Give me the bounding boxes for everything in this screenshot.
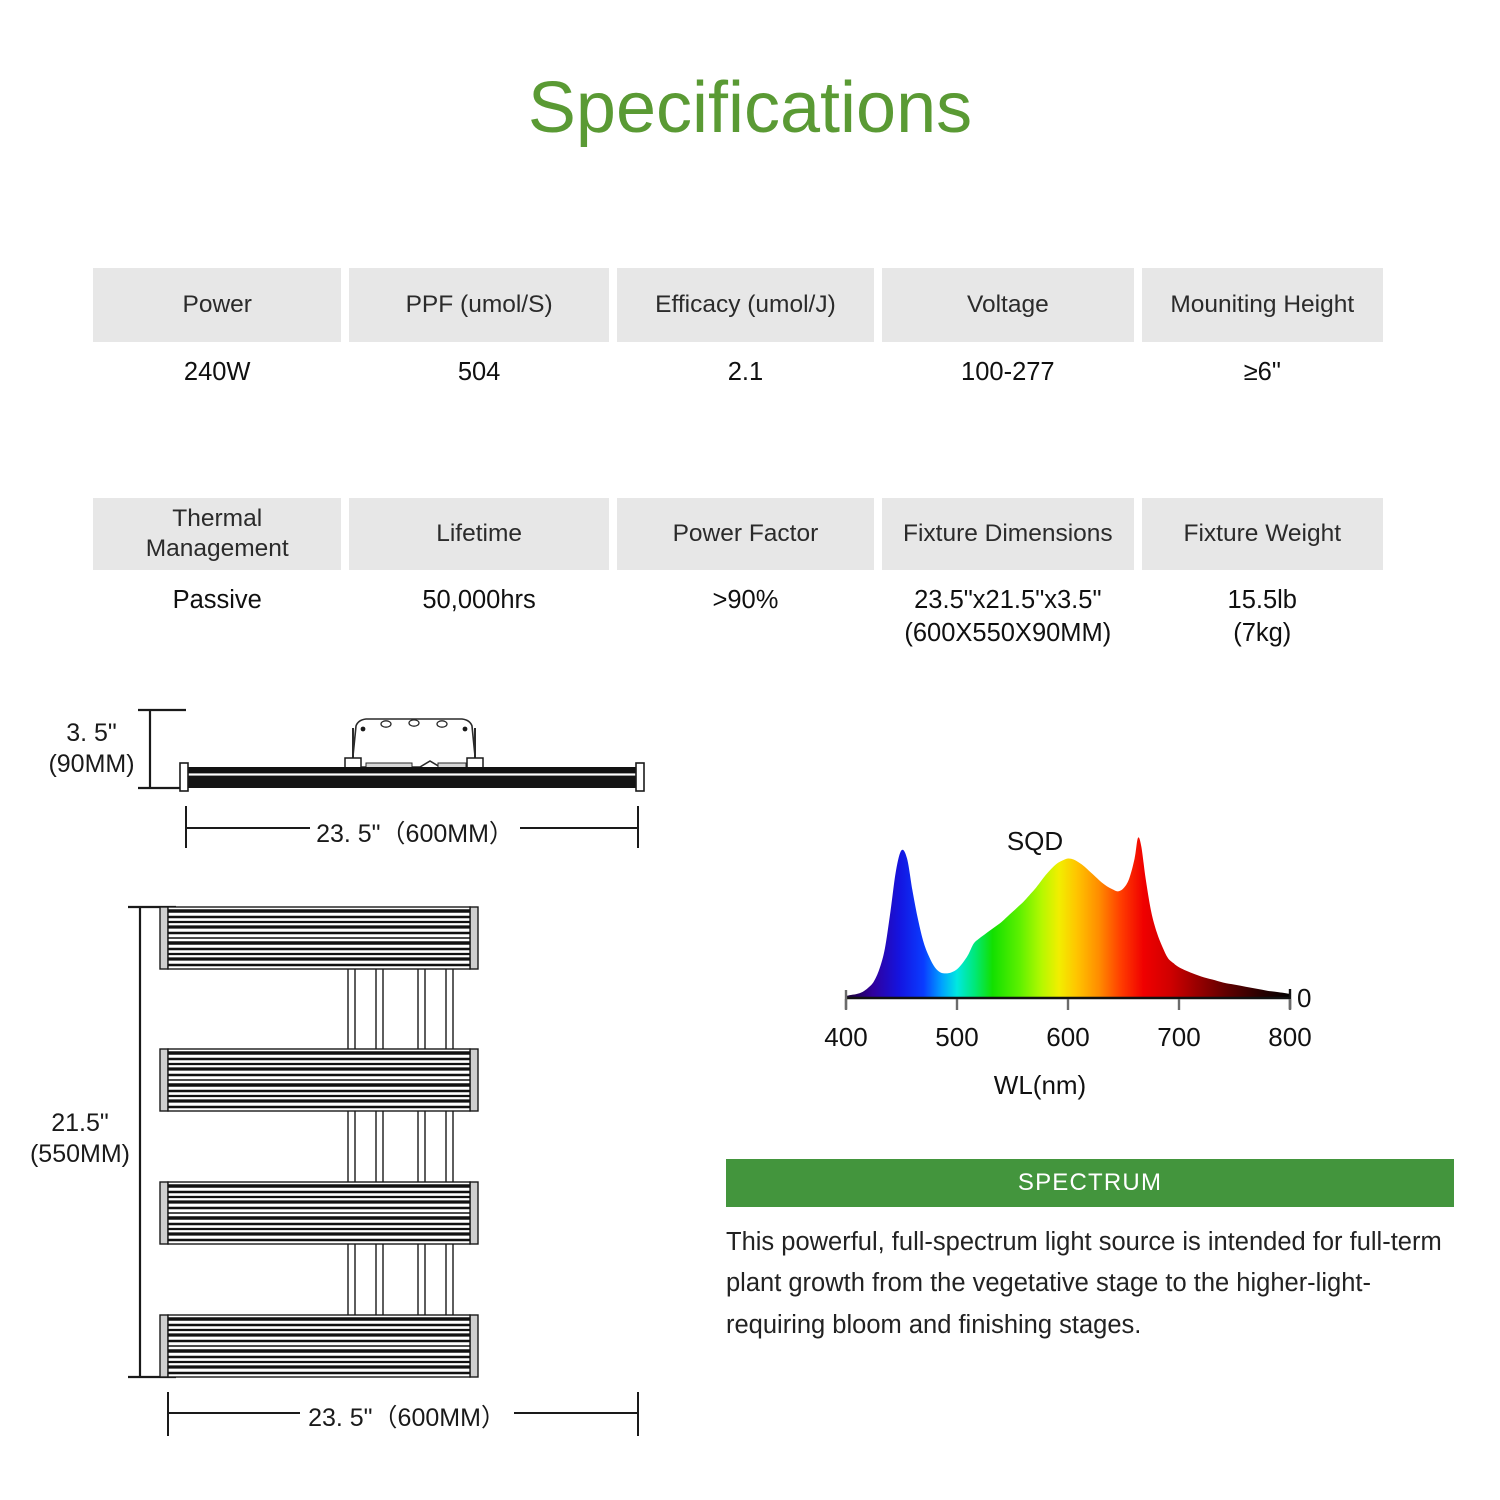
spec-header-cell: Voltage xyxy=(882,268,1133,342)
spectrum-description: This powerful, full-spectrum light sourc… xyxy=(726,1222,1466,1346)
spec-value-cell: Passive xyxy=(93,570,341,650)
spec-header-cell: Power Factor xyxy=(617,498,874,570)
spec-table-secondary: Thermal Management Lifetime Power Factor… xyxy=(93,498,1383,650)
spec-header-cell: PPF (umol/S) xyxy=(349,268,608,342)
spec-header-cell: Fixture Dimensions xyxy=(882,498,1133,570)
spec-value-cell: ≥6" xyxy=(1142,342,1383,394)
spec-value-cell: 2.1 xyxy=(617,342,874,394)
spec-header-cell: Efficacy (umol/J) xyxy=(617,268,874,342)
spectrum-curve-area xyxy=(846,837,1290,998)
x-tick-label: 400 xyxy=(806,1022,886,1053)
spec-table-primary: Power PPF (umol/S) Efficacy (umol/J) Vol… xyxy=(93,268,1383,394)
table-value-row: 240W 504 2.1 100-277 ≥6" xyxy=(93,342,1383,394)
spectrum-banner: SPECTRUM xyxy=(726,1159,1454,1207)
table-header-row: Power PPF (umol/S) Efficacy (umol/J) Vol… xyxy=(93,268,1383,342)
x-tick-label: 500 xyxy=(917,1022,997,1053)
spec-header-cell: Lifetime xyxy=(349,498,608,570)
page-title: Specifications xyxy=(0,72,1500,144)
spec-value-cell: 50,000hrs xyxy=(349,570,608,650)
x-tick-label: 700 xyxy=(1139,1022,1219,1053)
bottom-view-drawing: 21.5" (550MM) 23. 5"（600MM） xyxy=(0,880,700,1440)
spec-value-cell: 15.5lb (7kg) xyxy=(1142,570,1383,650)
spec-value-cell: 100-277 xyxy=(882,342,1133,394)
side-view-drawing: 3. 5" (90MM) 23. 5"（600MM） xyxy=(0,688,700,868)
side-view-width-label: 23. 5"（600MM） xyxy=(312,814,518,850)
spec-header-cell: Mouniting Height xyxy=(1142,268,1383,342)
table-header-row: Thermal Management Lifetime Power Factor… xyxy=(93,498,1383,570)
bottom-view-height-label: 21.5" (550MM) xyxy=(20,1108,140,1171)
spec-header-cell: Thermal Management xyxy=(93,498,341,570)
spec-header-cell: Fixture Weight xyxy=(1142,498,1383,570)
side-view-height-label: 3. 5" (90MM) xyxy=(34,718,149,781)
led-bar-group xyxy=(160,907,478,1377)
x-axis-ticks xyxy=(846,999,1290,1010)
x-tick-label: 800 xyxy=(1250,1022,1330,1053)
spec-value-cell: 240W xyxy=(93,342,341,394)
spectrum-banner-label: SPECTRUM xyxy=(1018,1169,1162,1197)
spec-value-cell: 23.5"x21.5"x3.5" (600X550X90MM) xyxy=(882,570,1133,650)
bottom-view-width-label: 23. 5"（600MM） xyxy=(302,1398,512,1434)
spec-header-cell: Power xyxy=(93,268,341,342)
spec-value-cell: 504 xyxy=(349,342,608,394)
x-axis-title: WL(nm) xyxy=(950,1070,1130,1101)
y-zero-label: 0 xyxy=(1297,983,1311,1014)
x-tick-label: 600 xyxy=(1028,1022,1108,1053)
specifications-page: Specifications Power PPF (umol/S) Effica… xyxy=(0,0,1500,1500)
table-value-row: Passive 50,000hrs >90% 23.5"x21.5"x3.5" … xyxy=(93,570,1383,650)
chart-title: SQD xyxy=(820,826,1250,857)
spectrum-chart: SQD xyxy=(820,826,1340,1116)
spec-value-cell: >90% xyxy=(617,570,874,650)
